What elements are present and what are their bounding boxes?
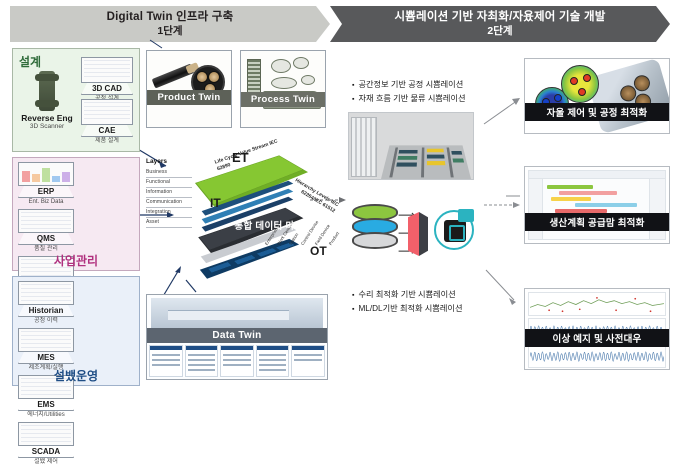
bullet-material-flow-sim: 자재 흐름 기반 물류 시뿀레이션 [352, 92, 466, 106]
factory-floor-3d [381, 145, 471, 179]
erp-thumbnail [18, 162, 74, 186]
3d-cad-thumbnail [81, 57, 133, 83]
cable-photo [586, 58, 670, 134]
reverse-engineering-item: Reverse Eng 3D Scanner [19, 71, 75, 130]
fem-result-circle-yellow [561, 65, 599, 103]
trend-chart-with-anomalies [528, 292, 666, 316]
tile-erp-sublabel: Ent. Biz Data [18, 198, 74, 206]
result-card-anomaly-detection: 이상 예지 및 사전대우 [524, 288, 670, 370]
side-tag-product: Product [328, 231, 340, 246]
result-card-autonomous-control: 자울 제어 및 공정 최적화 [524, 58, 670, 134]
data-table [185, 345, 219, 377]
design-panel-title: 설계 [19, 53, 41, 70]
tile-mes: MES 제조계획/실행 [18, 328, 74, 372]
reverse-eng-label: Reverse Eng [19, 113, 75, 123]
result-card-supply-chain: 생산계획 공급맘 최적화 [524, 166, 670, 244]
process-twin-caption: Process Twin [241, 92, 325, 107]
vessel-photo [151, 298, 323, 328]
cube-label-et: ET [232, 150, 249, 165]
process-simulation-view [348, 112, 474, 180]
business-panel: ERP Ent. Biz Data QMS 품질 관리 E-Proc 구매 관리 [12, 157, 140, 271]
data-twin-caption: Data Twin [147, 328, 327, 343]
tile-ems-label: EMS [18, 399, 74, 411]
cable-side-view [152, 63, 195, 88]
tile-mes-label: MES [18, 352, 74, 364]
product-twin-card: Product Twin [146, 50, 232, 128]
thumbnail-texture [22, 166, 70, 182]
thumbnail-texture [21, 425, 71, 443]
side-tag-station: Station [288, 232, 299, 246]
data-table [220, 345, 254, 377]
thumbnail-texture [21, 331, 71, 349]
slide-canvas: Digital Twin 인프라 구축 1단계 시뿀레이션 기반 자최화/자욨제… [0, 0, 677, 400]
reverse-eng-sublabel: 3D Scanner [19, 123, 75, 130]
database-disc-gray [352, 232, 398, 249]
tile-historian: Historian 공정 이력 [18, 281, 74, 325]
tile-erp: ERP Ent. Biz Data [18, 162, 74, 206]
data-table [256, 345, 290, 377]
tile-qms: QMS 품질 관리 [18, 209, 74, 253]
bullet-repair-optimization-sim: 수리 최적화 기반 시뿀레이션 [352, 288, 462, 302]
phase1-banner: Digital Twin 인프라 구축 1단계 [10, 6, 330, 42]
gantt-toolbar [529, 171, 665, 179]
bullet-spatial-process-sim: 공간정보 기반 공정 시뿀레이션 [352, 78, 466, 92]
data-table [149, 345, 183, 377]
ot-node [233, 254, 257, 265]
process-blob-icon [301, 75, 315, 85]
process-blob-icon [271, 77, 297, 89]
tile-historian-sublabel: 공정 이력 [18, 317, 74, 325]
data-tables-strip [149, 345, 325, 377]
tile-historian-label: Historian [18, 305, 74, 317]
tile-cae-label: CAE [81, 125, 133, 137]
3d-scanner-icon [39, 71, 55, 111]
tile-3d-cad: 3D CAD 공정 설계 [81, 57, 133, 103]
cube-label-it: IT [210, 196, 221, 210]
bullet-mldl-optimization-sim: ML/DL기반 최적화 시뿀레이션 [352, 302, 462, 316]
operations-panel: Historian 공정 이력 MES 제조계획/실행 EMS 에너지/Util… [12, 276, 140, 386]
historian-thumbnail [18, 281, 74, 305]
phase2-banner: 시뿀레이션 기반 자최화/자욨제어 기술 개발 2단계 [330, 6, 670, 42]
process-twin-card: Process Twin [240, 50, 326, 128]
tile-qms-label: QMS [18, 233, 74, 245]
business-panel-title: 사업관리 [13, 252, 139, 269]
phase2-banner-stage: 2단계 [487, 25, 512, 37]
tile-scada: SCADA 설뱄 제어 [18, 422, 74, 466]
thumbnail-texture [84, 102, 130, 122]
result-caption-supply-chain: 생산계획 공급맘 최적화 [525, 213, 669, 231]
tile-3d-cad-label: 3D CAD [81, 83, 133, 95]
cube-label-ot: OT [310, 244, 327, 258]
analytics-badge-icon [458, 209, 474, 222]
ot-node [256, 248, 278, 258]
optimization-engine-icon [408, 212, 428, 256]
cae-thumbnail [81, 99, 133, 125]
tile-scada-label: SCADA [18, 446, 74, 458]
phase1-banner-title: Digital Twin 인프라 구축 [107, 11, 234, 24]
building-facade [351, 117, 377, 177]
tile-cae-sublabel: 제품 설계 [81, 137, 133, 145]
result-caption-autonomous-control: 자울 제어 및 공정 최적화 [525, 103, 669, 121]
result-caption-anomaly-detection: 이상 예지 및 사전대우 [525, 329, 669, 347]
tile-erp-label: ERP [18, 186, 74, 198]
phase2-bullets-bottom: 수리 최적화 기반 시뿀레이션 ML/DL기반 최적화 시뿀레이션 [352, 288, 462, 316]
tile-ems-sublabel: 에너지/Utilities [18, 411, 74, 419]
tile-scada-sublabel: 설뱄 제어 [18, 458, 74, 466]
tile-cae: CAE 제품 설계 [81, 99, 133, 145]
thumbnail-texture [21, 284, 71, 302]
phase2-banner-title: 시뿀레이션 기반 자최화/자욨제어 기술 개발 [394, 11, 605, 24]
vibration-waveform-2 [528, 344, 666, 368]
ai-chip-icon [434, 210, 474, 250]
trend-line [530, 294, 664, 315]
scada-thumbnail [18, 422, 74, 446]
qms-thumbnail [18, 209, 74, 233]
rami-cube-diagram: Layers Business Functional Information C… [146, 150, 330, 276]
phase2-bullets-top: 공간정보 기반 공정 시뿀레이션 자재 흐름 기반 물류 시뿀레이션 [352, 78, 466, 106]
integrated-data-mart-label: 통합 데이터 마트 [214, 218, 324, 232]
waveform-line [530, 346, 664, 367]
ot-node [207, 261, 233, 273]
data-to-ai-flow: ⟶ ⟶ ⟶ [348, 196, 476, 274]
data-table [291, 345, 325, 377]
database-stack-icon [352, 204, 398, 246]
thumbnail-texture [21, 212, 71, 230]
cube-stack: Life Cycle Value Stream IEC 62890 Hierar… [170, 152, 328, 268]
process-blob-icon [293, 57, 309, 69]
product-twin-caption: Product Twin [147, 90, 231, 105]
phase1-banner-stage: 1단계 [157, 25, 182, 37]
data-twin-card: Data Twin [146, 294, 328, 380]
thumbnail-texture [84, 60, 130, 80]
mes-thumbnail [18, 328, 74, 352]
chip-glyph [444, 220, 466, 242]
design-panel: 설계 Reverse Eng 3D Scanner 3D CAD 공정 설계 C… [12, 48, 140, 152]
process-blob-icon [271, 59, 291, 73]
operations-panel-title: 설뱄운영 [13, 367, 139, 384]
cable-drawing [147, 51, 231, 127]
